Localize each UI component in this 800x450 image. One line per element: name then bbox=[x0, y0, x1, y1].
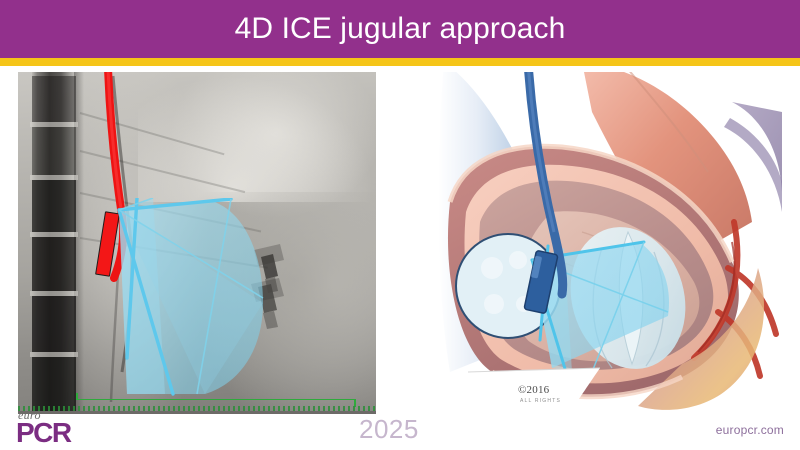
fluoroscopy-image bbox=[18, 72, 376, 414]
heart-illustration-svg bbox=[432, 72, 782, 414]
copyright-subtext: ALL RIGHTS bbox=[520, 398, 561, 404]
page-title: 4D ICE jugular approach bbox=[235, 14, 566, 44]
europcr-logo[interactable]: euro PCR bbox=[16, 408, 106, 448]
ecg-trace-marker-left bbox=[76, 393, 78, 400]
header-accent-stripe bbox=[0, 58, 800, 66]
slide-header-bar: 4D ICE jugular approach bbox=[0, 0, 800, 58]
year-label: 2025 bbox=[359, 414, 419, 445]
ecg-trace-line bbox=[76, 399, 356, 401]
website-url[interactable]: europcr.com bbox=[716, 423, 784, 437]
logo-pcr-text: PCR bbox=[16, 419, 71, 447]
anatomy-illustration: ©2016 ALL RIGHTS bbox=[432, 72, 782, 414]
copyright-notice: ©2016 bbox=[518, 384, 549, 396]
slide-content-area: ©2016 ALL RIGHTS bbox=[0, 66, 800, 450]
ice-imaging-volume bbox=[113, 198, 278, 398]
